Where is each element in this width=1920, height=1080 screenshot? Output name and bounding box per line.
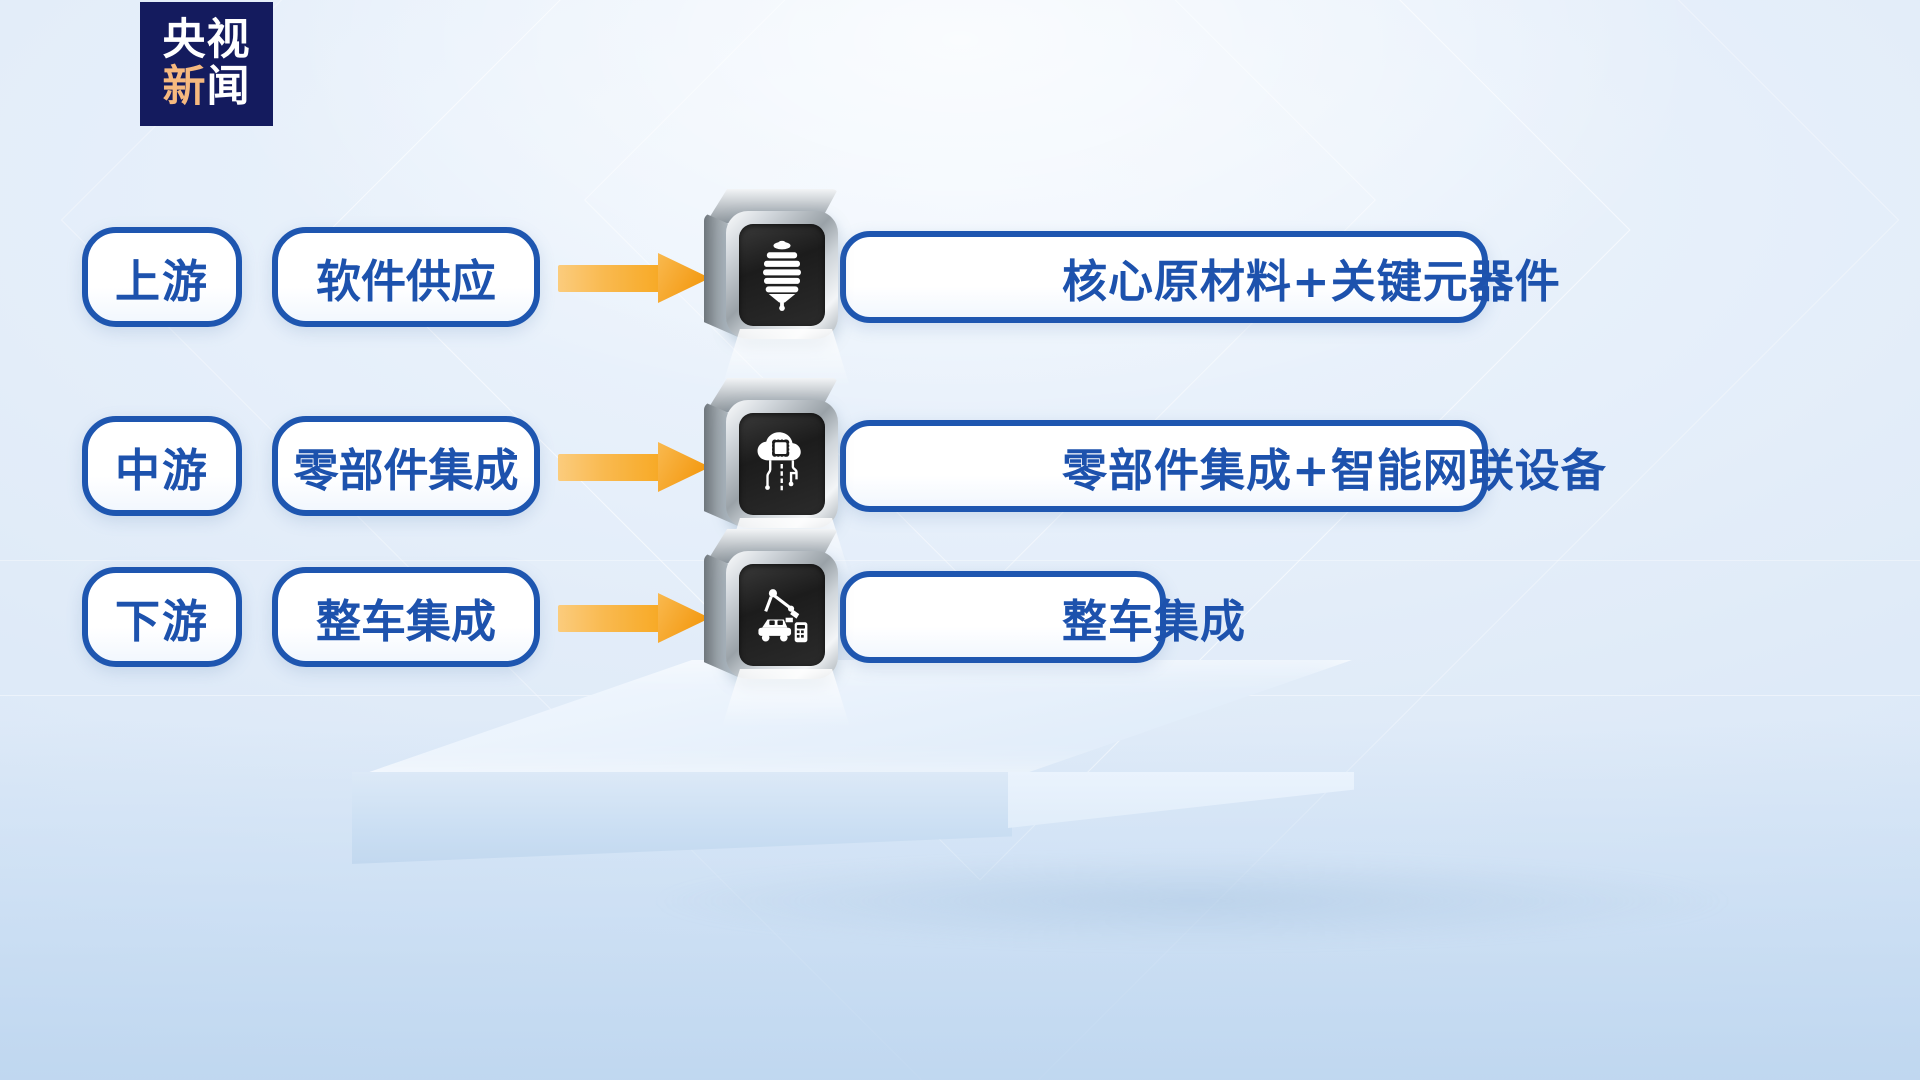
cube-screen [739,224,825,326]
cube-front-face [726,551,838,679]
description-label: 核心原材料+关键元器件 [1062,245,1561,310]
robot-arm-vehicle-icon [700,529,852,705]
right-arrow-icon [558,253,710,303]
cloud-chip-icon [700,378,852,554]
category-pill-midstream[interactable]: 零部件集成 [272,416,540,516]
stage-pill-midstream[interactable]: 中游 [82,416,242,516]
right-arrow-icon [558,442,710,492]
category-label: 软件供应 [316,245,496,310]
chain-row-midstream: 中游 零部件集成 零部件集成+智能网联设备 [0,404,1920,534]
cube-front-face [726,400,838,528]
cube-front-face [726,211,838,339]
arrow-shaft [558,605,662,632]
arrow-shaft [558,454,662,481]
description-label: 零部件集成+智能网联设备 [1062,434,1607,499]
coil-spring-glyph [753,239,811,311]
stage-pill-upstream[interactable]: 上游 [82,227,242,327]
chain-row-downstream: 下游 整车集成 整车集成 [0,555,1920,685]
description-pill-downstream[interactable]: 整车集成 [840,571,1166,663]
arrow-shaft [558,265,662,292]
category-label: 零部件集成 [293,434,518,499]
cube-screen [739,564,825,666]
stage-label: 下游 [115,585,209,650]
cloud-chip-glyph [753,428,811,500]
stage-label: 上游 [115,245,209,310]
infographic-stage: 央 视 新 闻 上游 软件供应 核心原材料+关键元器件 [0,0,1920,1080]
description-pill-upstream[interactable]: 核心原材料+关键元器件 [840,231,1488,323]
category-pill-downstream[interactable]: 整车集成 [272,567,540,667]
robot-arm-vehicle-glyph [753,579,811,651]
description-label: 整车集成 [1062,585,1246,650]
stage-pill-downstream[interactable]: 下游 [82,567,242,667]
stage-label: 中游 [115,434,209,499]
supply-chain-rows: 上游 软件供应 核心原材料+关键元器件 [0,0,1920,1080]
right-arrow-icon [558,593,710,643]
cube-screen [739,413,825,515]
coil-spring-icon [700,189,852,365]
description-pill-midstream[interactable]: 零部件集成+智能网联设备 [840,420,1488,512]
chain-row-upstream: 上游 软件供应 核心原材料+关键元器件 [0,215,1920,345]
category-label: 整车集成 [316,585,496,650]
category-pill-upstream[interactable]: 软件供应 [272,227,540,327]
